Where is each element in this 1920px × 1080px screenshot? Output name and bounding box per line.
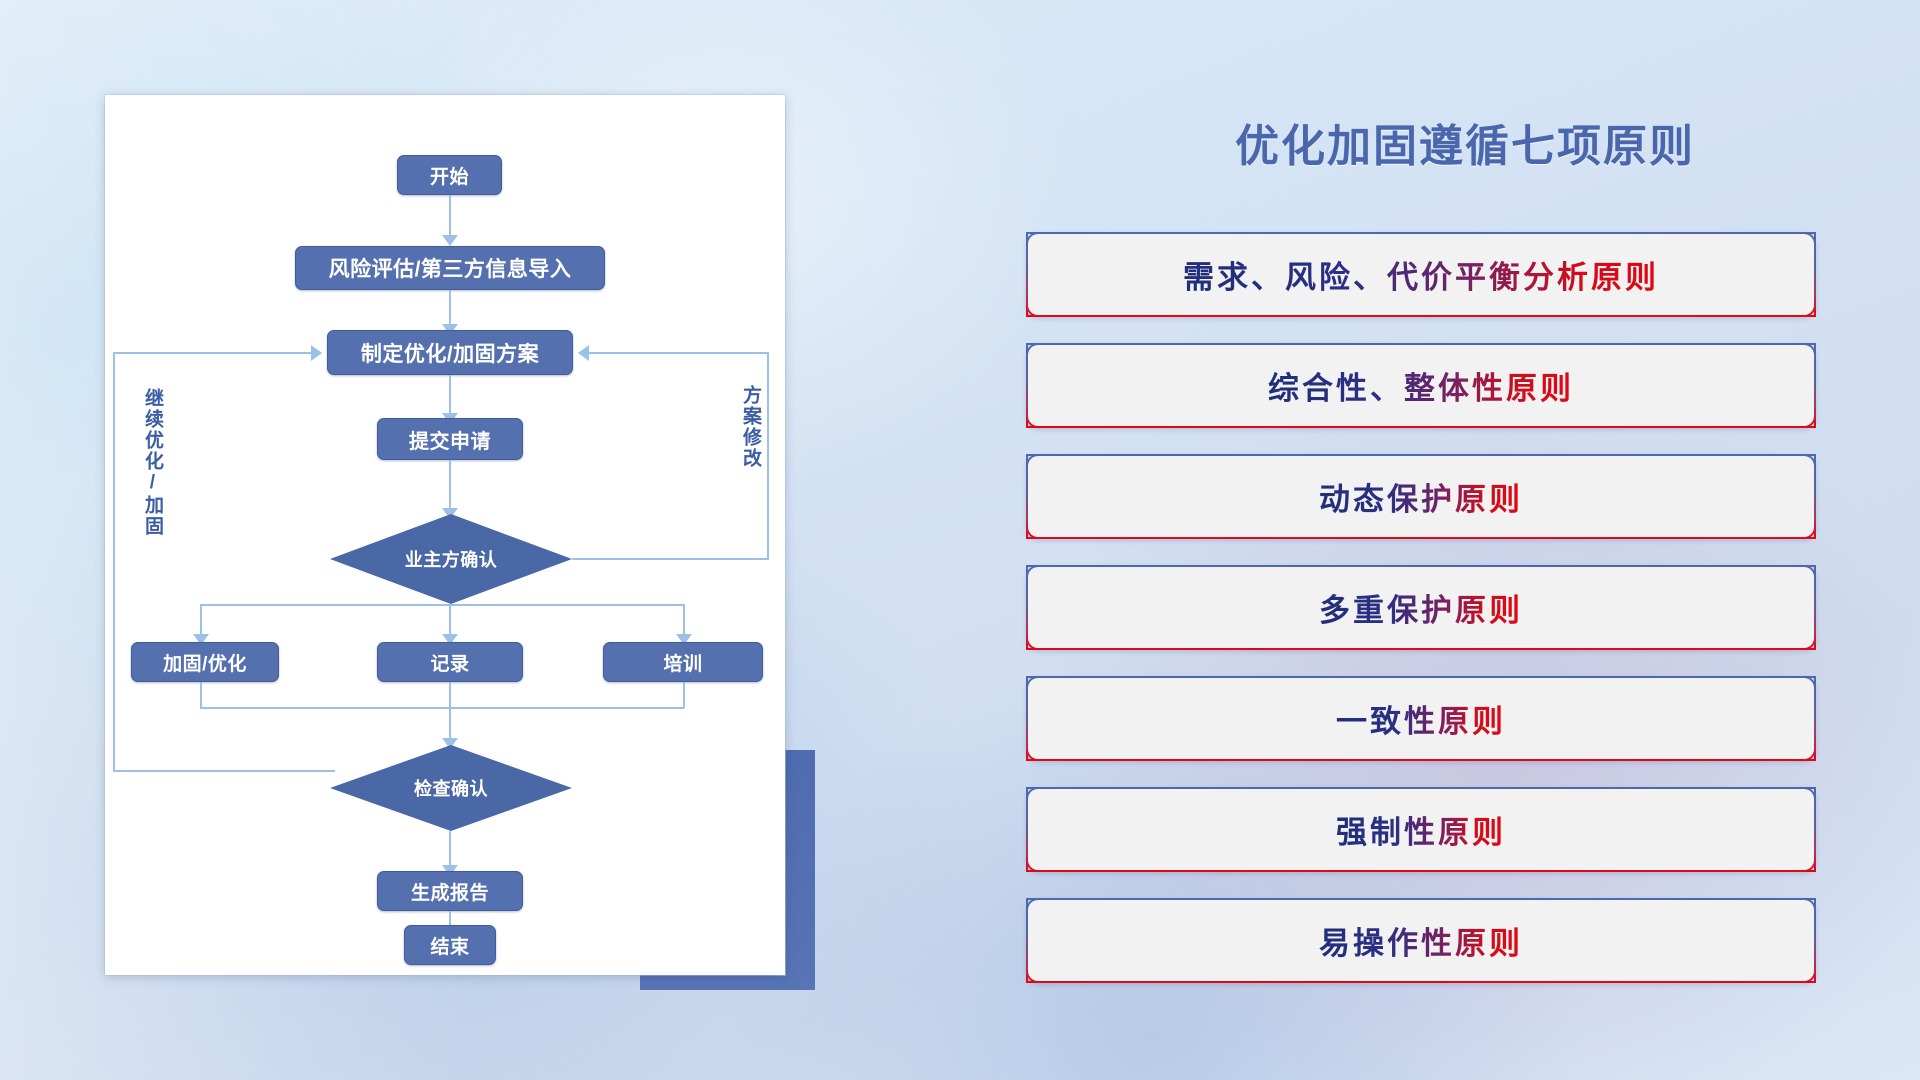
flow-node-submit-application-label: 提交申请 [409, 425, 491, 454]
principle-card[interactable]: 综合性、整体性原则 [1026, 343, 1816, 428]
flow-node-submit-application[interactable]: 提交申请 [377, 418, 523, 460]
flow-node-risk-assessment-label: 风险评估/第三方信息导入 [329, 253, 572, 283]
flow-node-start-label: 开始 [430, 162, 469, 189]
flow-label-plan-revision: 方案修改 [740, 385, 760, 469]
flow-node-risk-assessment[interactable]: 风险评估/第三方信息导入 [295, 246, 605, 290]
principle-card[interactable]: 一致性原则 [1026, 676, 1816, 761]
connector-owner-right [572, 558, 769, 560]
principle-card[interactable]: 强制性原则 [1026, 787, 1816, 872]
principle-card-label: 强制性原则 [1336, 807, 1506, 852]
flow-node-end-label: 结束 [430, 932, 469, 959]
principle-card[interactable]: 动态保护原则 [1026, 454, 1816, 539]
connector-right-loop-up [767, 352, 769, 560]
flow-decision-check-confirm-label: 检查确认 [414, 775, 488, 801]
principle-card[interactable]: 需求、风险、代价平衡分析原则 [1026, 232, 1816, 317]
principle-card-label: 易操作性原则 [1319, 918, 1523, 963]
connector-submit-to-owner [449, 460, 451, 515]
principle-card[interactable]: 易操作性原则 [1026, 898, 1816, 983]
connector-training-down [683, 682, 685, 708]
connector-fanout-bar [200, 604, 684, 606]
flow-node-end[interactable]: 结束 [404, 925, 496, 965]
connector-fanin-bar [200, 707, 684, 709]
connector-reinforce-down [200, 682, 202, 708]
connector-left-loop-up [113, 352, 115, 772]
flow-node-reinforce-optimize-label: 加固/优化 [163, 649, 247, 676]
arrow-down-icon [442, 235, 458, 246]
flow-node-generate-report-label: 生成报告 [411, 878, 489, 905]
connector-check-to-left-loop [113, 770, 335, 772]
flow-node-reinforce-optimize[interactable]: 加固/优化 [131, 642, 279, 682]
flow-label-continue-optimize: 继续优化/加固 [142, 388, 162, 537]
flow-node-generate-report[interactable]: 生成报告 [377, 871, 523, 911]
principles-title: 优化加固遵循七项原则 [1155, 110, 1775, 174]
principle-card-label: 综合性、整体性原则 [1268, 363, 1574, 408]
flow-node-start[interactable]: 开始 [397, 155, 502, 195]
flow-node-training-label: 培训 [663, 649, 702, 676]
principle-card-label: 动态保护原则 [1319, 474, 1523, 519]
flow-node-record[interactable]: 记录 [377, 642, 523, 682]
principle-card[interactable]: 多重保护原则 [1026, 565, 1816, 650]
flow-node-record-label: 记录 [430, 649, 469, 676]
flow-node-make-plan-label: 制定优化/加固方案 [361, 338, 539, 368]
principle-card-label: 一致性原则 [1336, 696, 1506, 741]
principle-card-label: 需求、风险、代价平衡分析原则 [1183, 252, 1659, 297]
connector-left-loop-to-plan [113, 352, 313, 354]
connector-right-loop-to-plan [589, 352, 769, 354]
arrow-right-icon [311, 345, 322, 361]
arrow-left-icon [578, 345, 589, 361]
principle-card-label: 多重保护原则 [1319, 585, 1523, 630]
flow-node-make-plan[interactable]: 制定优化/加固方案 [327, 330, 573, 375]
principles-card-list: 需求、风险、代价平衡分析原则 综合性、整体性原则 动态保护原则 多重保护原则 一… [1026, 232, 1816, 1009]
flow-decision-owner-confirm-label: 业主方确认 [405, 546, 498, 572]
connector-record-to-check [449, 682, 451, 744]
flow-node-training[interactable]: 培训 [603, 642, 763, 682]
